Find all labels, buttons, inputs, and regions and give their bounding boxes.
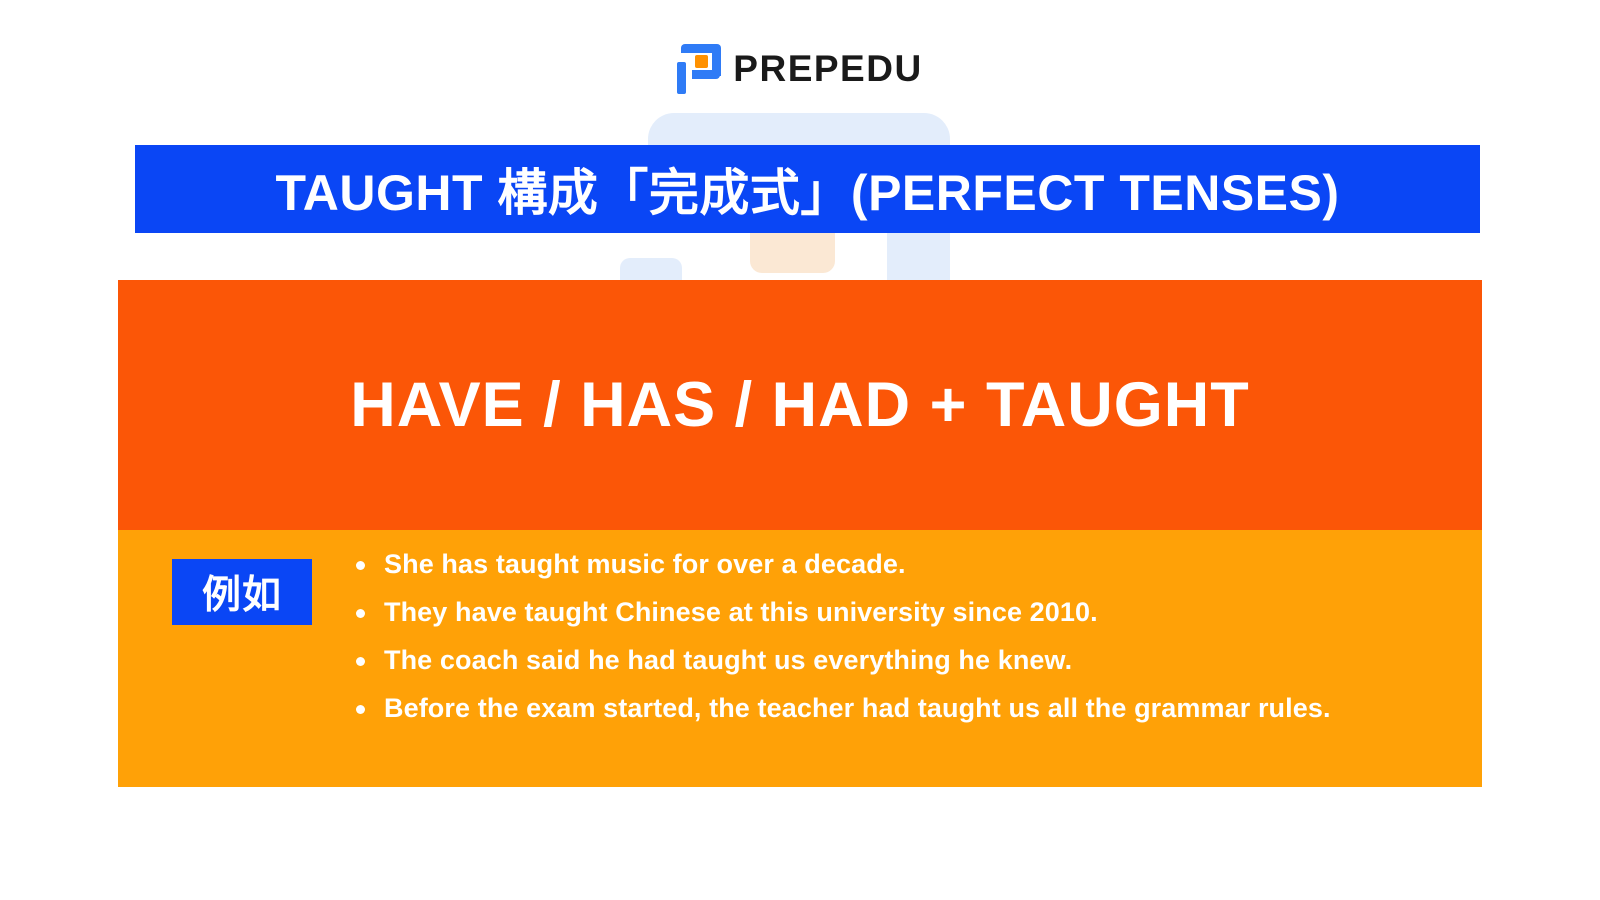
examples-badge-label: 例如 <box>202 564 282 620</box>
example-sentence-list: She has taught music for over a decade. … <box>348 542 1438 734</box>
list-item: She has taught music for over a decade. <box>348 542 1438 587</box>
examples-band: 例如 She has taught music for over a decad… <box>118 530 1482 787</box>
brand-wordmark: PREPEDU <box>733 48 922 90</box>
list-item: They have taught Chinese at this univers… <box>348 590 1438 635</box>
formula-text: HAVE / HAS / HAD + TAUGHT <box>350 369 1249 441</box>
brand-header: PREPEDU <box>0 44 1600 94</box>
list-item: The coach said he had taught us everythi… <box>348 638 1438 683</box>
page-title: TAUGHT 構成「完成式」(PERFECT TENSES) <box>275 153 1339 225</box>
infographic-page: PREP PREPEDU TAUGHT 構成「完成式」(PERFECT TENS… <box>0 0 1600 900</box>
title-banner: TAUGHT 構成「完成式」(PERFECT TENSES) <box>135 145 1480 233</box>
list-item: Before the exam started, the teacher had… <box>348 686 1438 731</box>
examples-badge: 例如 <box>172 559 312 625</box>
formula-band: HAVE / HAS / HAD + TAUGHT <box>118 280 1482 530</box>
prepedu-p-logo-icon <box>677 44 721 94</box>
